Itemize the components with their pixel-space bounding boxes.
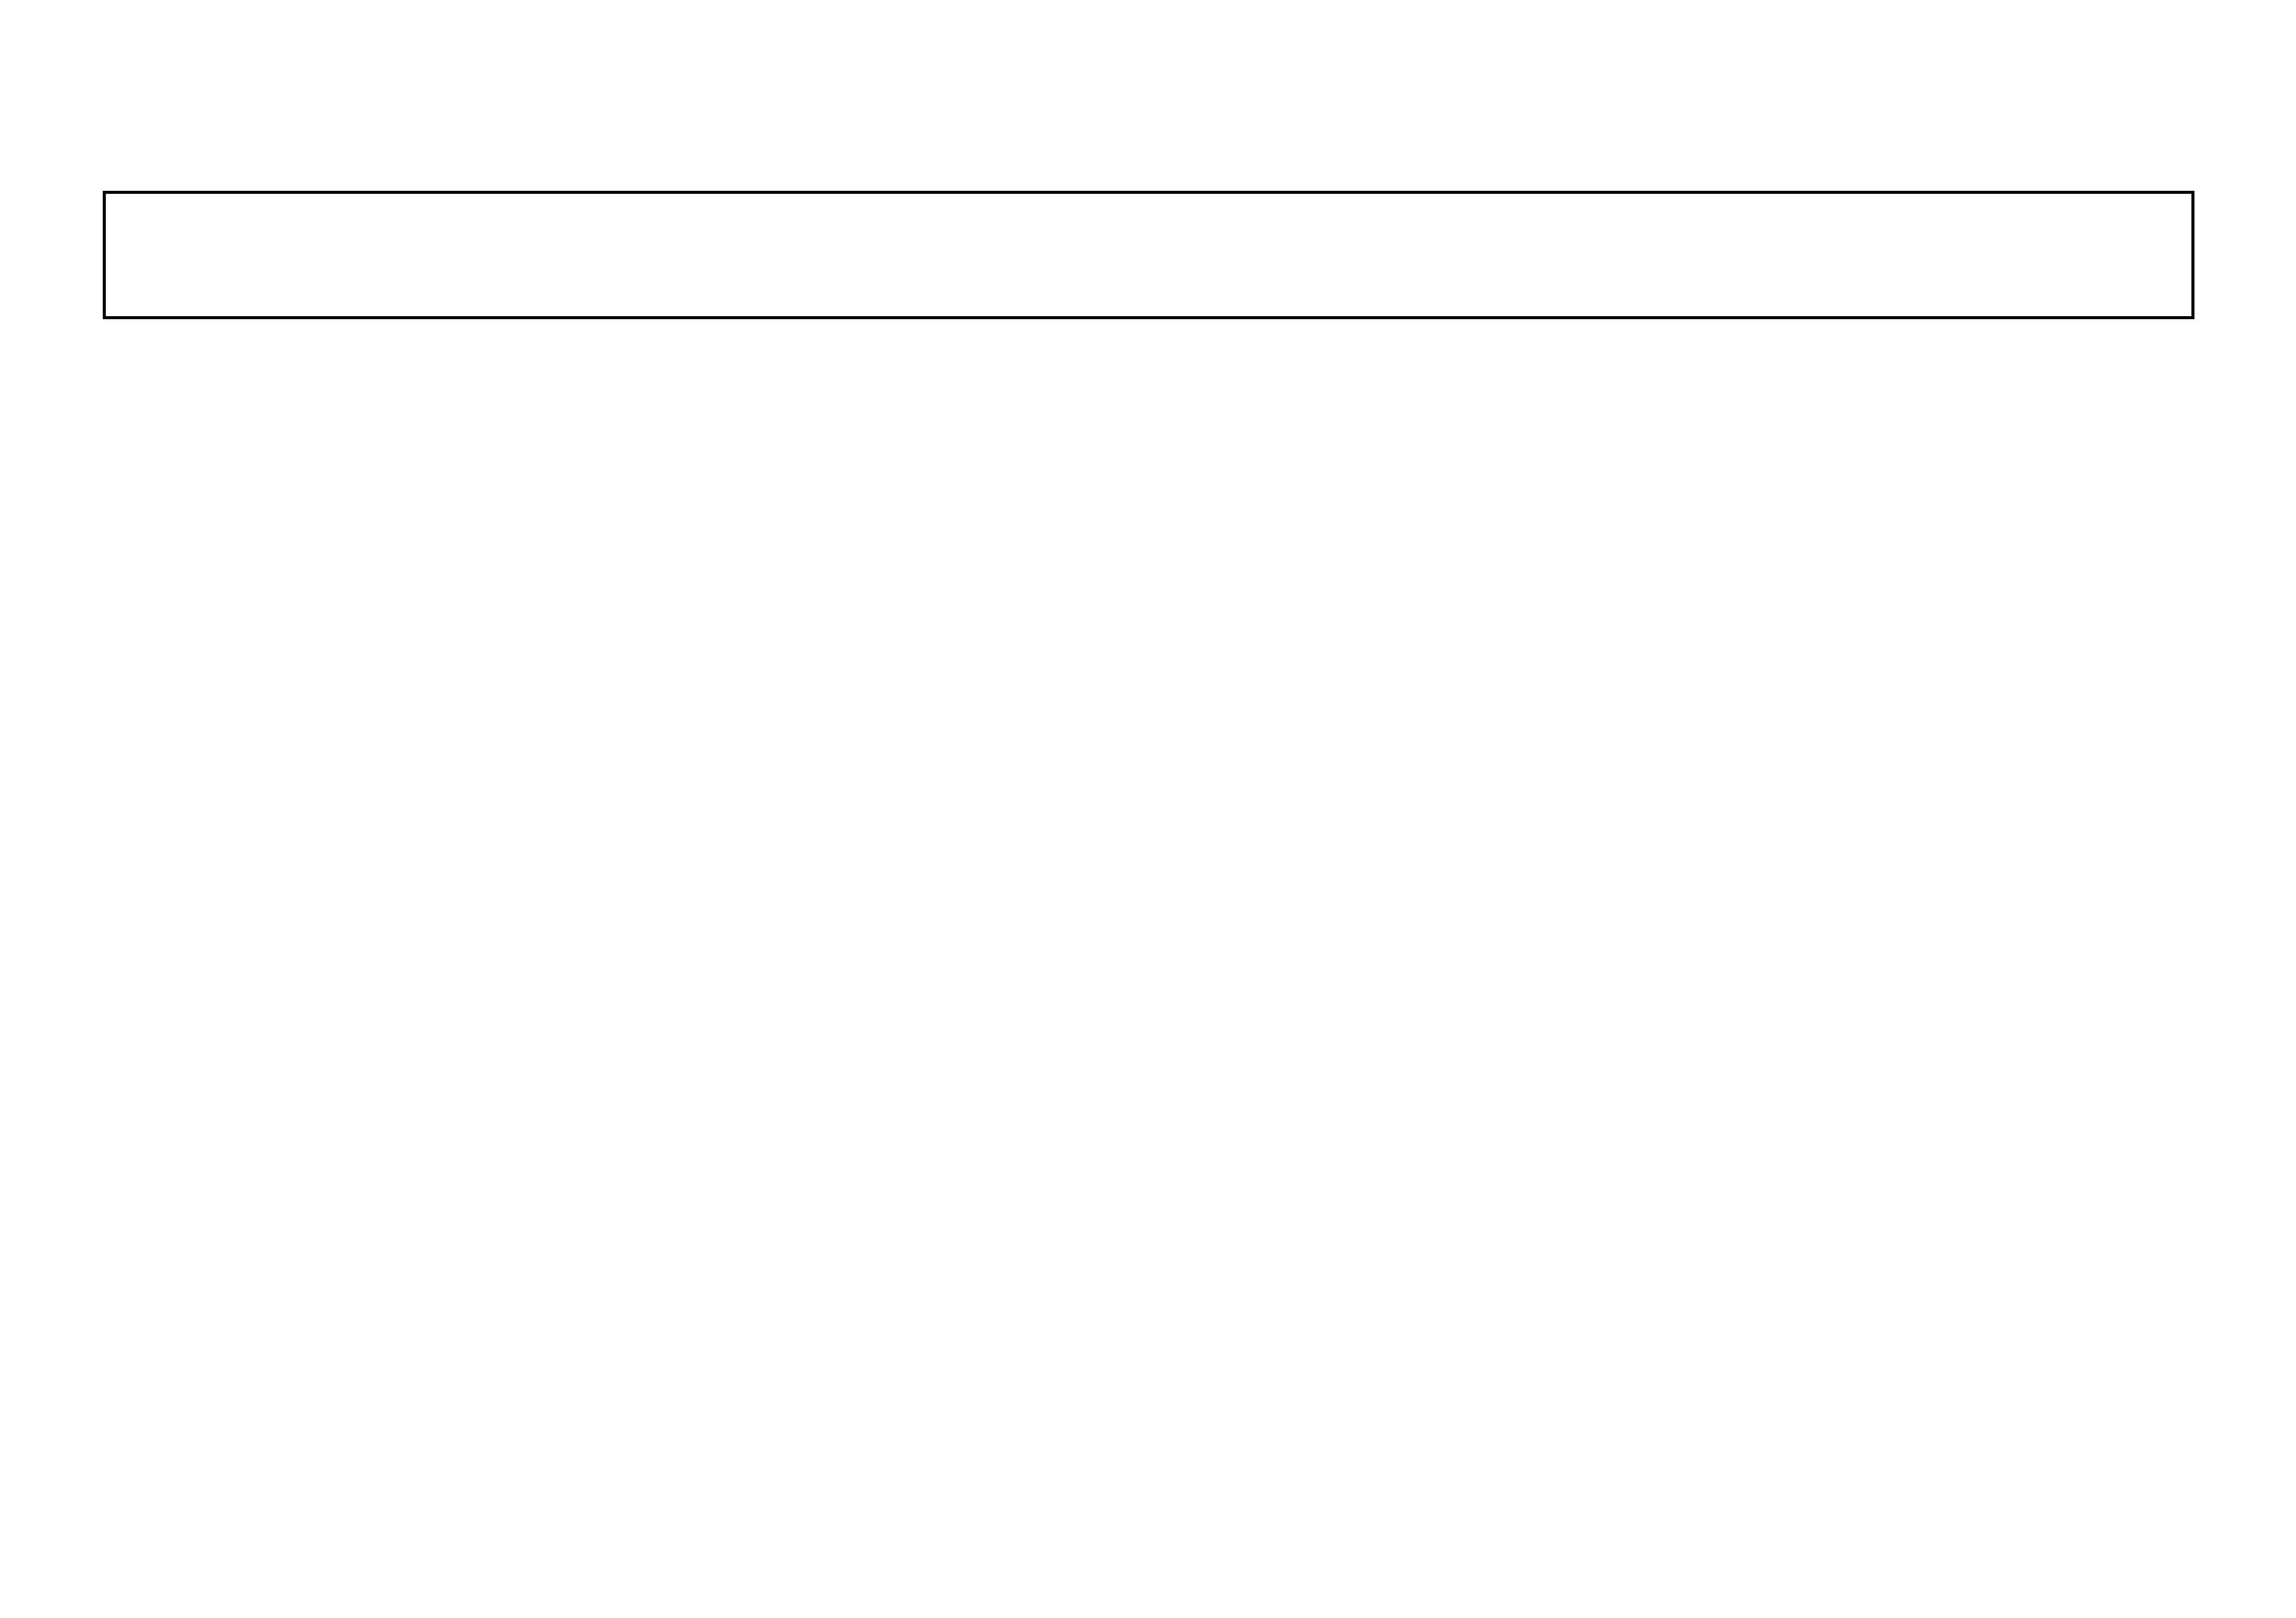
slide-page [0, 0, 2296, 1618]
summary-callout-box [103, 191, 2194, 319]
x-axis-labels [247, 1289, 1403, 1375]
chart-plot-area [247, 460, 1403, 1284]
mining-manufacturing-line-svg [247, 460, 1403, 1284]
